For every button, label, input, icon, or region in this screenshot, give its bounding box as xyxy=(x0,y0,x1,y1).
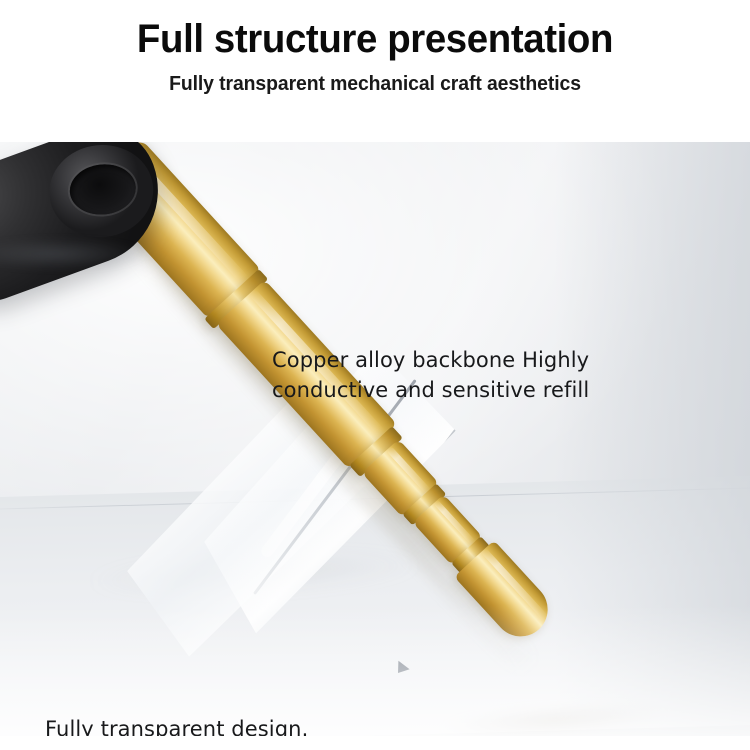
page-subtitle: Fully transparent mechanical craft aesth… xyxy=(11,72,739,96)
annotation-copper-backbone: Copper alloy backbone Highly conductive … xyxy=(272,345,589,405)
product-feature-banner: Full structure presentation Fully transp… xyxy=(0,0,750,750)
annotation-transparent-design: Fully transparent design. visible reassu… xyxy=(45,714,309,736)
header: Full structure presentation Fully transp… xyxy=(0,0,750,142)
product-photo: Copper alloy backbone Highly conductive … xyxy=(0,142,750,736)
page-title: Full structure presentation xyxy=(15,17,735,61)
